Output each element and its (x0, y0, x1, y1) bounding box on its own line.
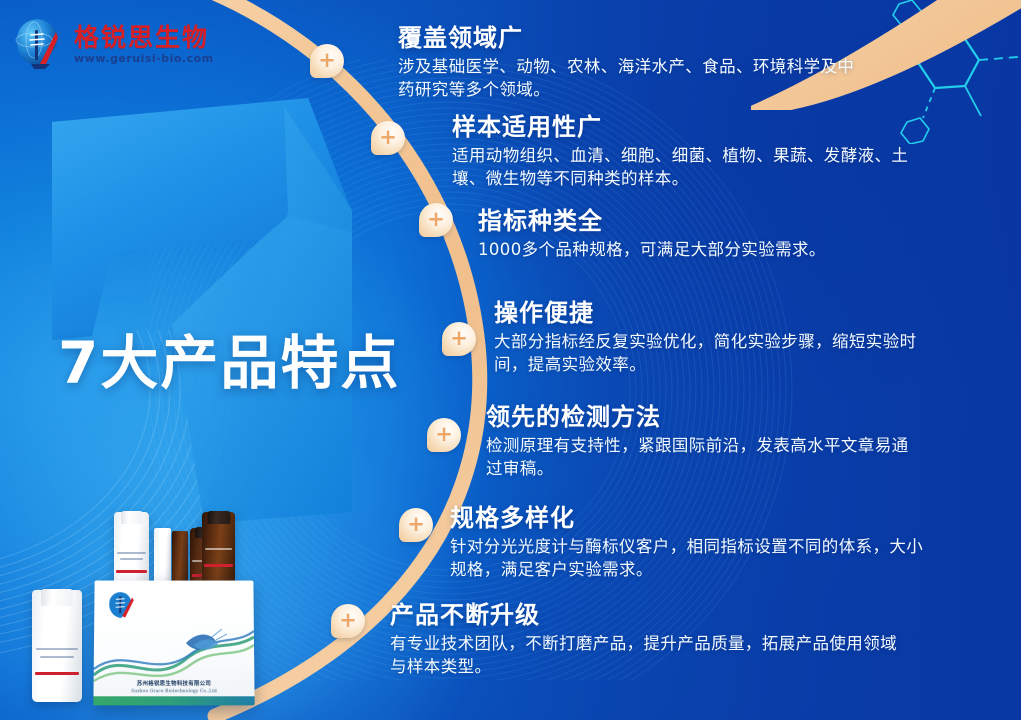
plus-icon: + (310, 44, 344, 78)
feature-title: 产品不断升级 (390, 602, 904, 629)
plus-marker-6[interactable]: + (399, 508, 433, 542)
plus-icon: + (442, 322, 476, 356)
plus-marker-1[interactable]: + (310, 44, 344, 78)
plus-marker-3[interactable]: + (419, 203, 453, 237)
brand-name-cn: 格锐思生物 (74, 25, 214, 50)
plus-icon: + (399, 508, 433, 542)
feature-description: 大部分指标经反复实验优化，简化实验步骤，缩短实验时间，提高实验效率。 (494, 330, 918, 377)
feature-title: 操作便捷 (494, 300, 918, 327)
plus-icon: + (427, 418, 461, 452)
feature-description: 检测原理有支持性，紧跟国际前沿，发表高水平文章易通过审稿。 (486, 434, 924, 481)
feature-title: 样本适用性广 (452, 114, 914, 141)
feature-item-4: 操作便捷 大部分指标经反复实验优化，简化实验步骤，缩短实验时间，提高实验效率。 (494, 300, 918, 377)
page-title: 7大产品特点 (58, 316, 400, 400)
brand-logo-text: 格锐思生物 www.geruisi-bio.com (74, 25, 214, 64)
plus-icon: + (371, 121, 405, 155)
feature-item-5: 领先的检测方法 检测原理有支持性，紧跟国际前沿，发表高水平文章易通过审稿。 (486, 404, 924, 481)
plus-marker-7[interactable]: + (331, 604, 365, 638)
plus-marker-5[interactable]: + (427, 418, 461, 452)
feature-item-1: 覆盖领域广 涉及基础医学、动物、农林、海洋水产、食品、环境科学及中药研究等多个领… (398, 25, 858, 102)
feature-item-7: 产品不断升级 有专业技术团队，不断打磨产品，提升产品质量，拓展产品使用领域与样本… (390, 602, 904, 679)
feature-title: 规格多样化 (450, 505, 926, 532)
globe-dna-logo-icon (12, 18, 68, 70)
feature-title: 覆盖领域广 (398, 25, 858, 52)
brand-website-url: www.geruisi-bio.com (74, 53, 214, 64)
feature-title: 领先的检测方法 (486, 404, 924, 431)
feature-item-2: 样本适用性广 适用动物组织、血清、细胞、细菌、植物、果蔬、发酵液、土壤、微生物等… (452, 114, 914, 191)
feature-title: 指标种类全 (478, 208, 948, 235)
feature-item-3: 指标种类全 1000多个品种规格，可满足大部分实验需求。 (478, 208, 948, 261)
plus-icon: + (419, 203, 453, 237)
plus-marker-4[interactable]: + (442, 322, 476, 356)
feature-description: 1000多个品种规格，可满足大部分实验需求。 (478, 238, 948, 261)
feature-description: 有专业技术团队，不断打磨产品，提升产品质量，拓展产品使用领域与样本类型。 (390, 632, 904, 679)
feature-item-6: 规格多样化 针对分光光度计与酶标仪客户，相同指标设置不同的体系，大小规格，满足客… (450, 505, 926, 582)
brand-logo: 格锐思生物 www.geruisi-bio.com (12, 16, 222, 72)
infographic-poster: + + + + + + + (0, 0, 1021, 720)
feature-description: 涉及基础医学、动物、农林、海洋水产、食品、环境科学及中药研究等多个领域。 (398, 55, 858, 102)
plus-marker-2[interactable]: + (371, 121, 405, 155)
plus-icon: + (331, 604, 365, 638)
feature-description: 适用动物组织、血清、细胞、细菌、植物、果蔬、发酵液、土壤、微生物等不同种类的样本… (452, 144, 914, 191)
feature-description: 针对分光光度计与酶标仪客户，相同指标设置不同的体系，大小规格，满足客户实验需求。 (450, 535, 926, 582)
